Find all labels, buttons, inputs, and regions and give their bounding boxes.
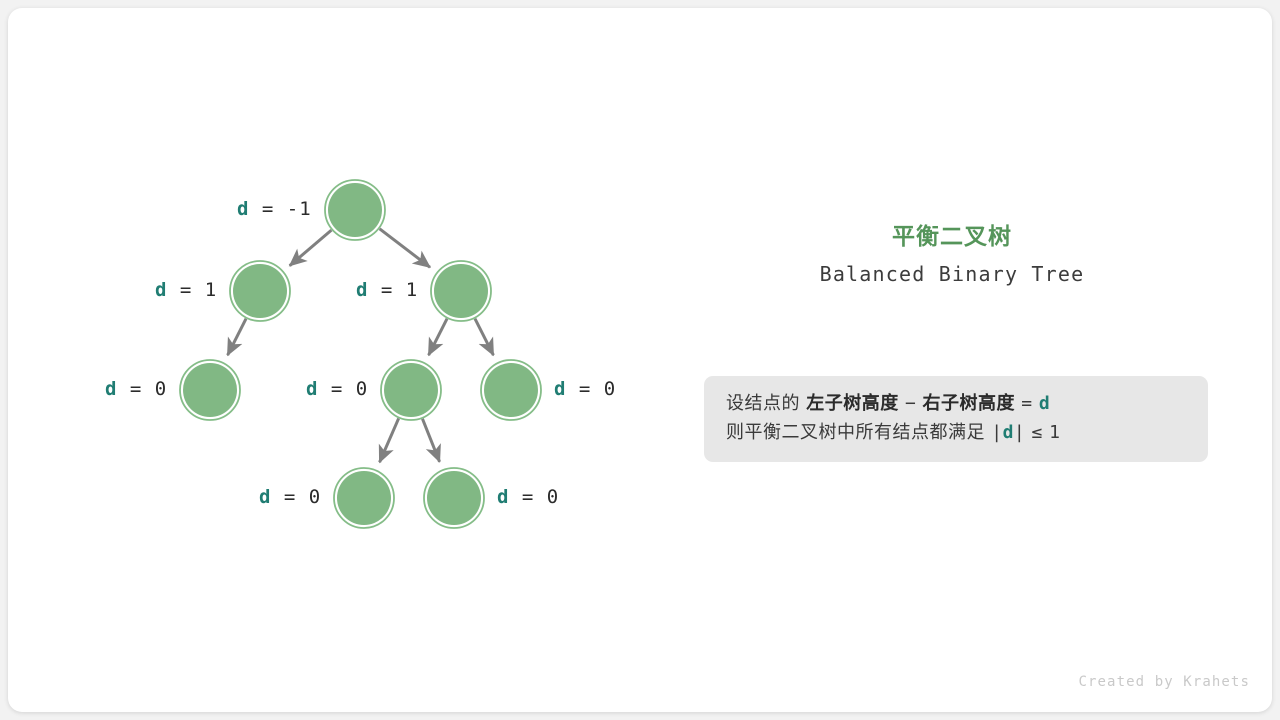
tree-node (334, 468, 394, 528)
label-expression: = -1 (249, 198, 311, 220)
label-expression: = 0 (271, 486, 321, 508)
label-variable: d (497, 486, 509, 508)
label-expression: = 1 (167, 279, 217, 301)
tree-edge (228, 319, 246, 356)
node-circle (484, 363, 538, 417)
definition-box: 设结点的 左子树高度 − 右子树高度 = d 则平衡二叉树中所有结点都满足 |d… (704, 376, 1208, 462)
label-expression: = 0 (566, 378, 616, 400)
variable-d-abs: d (1003, 422, 1014, 443)
label-expression: = 0 (318, 378, 368, 400)
page-title: 平衡二叉树 (696, 223, 1208, 252)
label-variable: d (155, 279, 167, 301)
node-balance-label: d = 0 (306, 380, 368, 399)
abs-bar-open: | (991, 422, 1002, 443)
node-balance-label: d = 0 (554, 380, 616, 399)
label-variable: d (306, 378, 318, 400)
label-expression: = 0 (509, 486, 559, 508)
tree-node (230, 261, 290, 321)
term-left-subtree-height: 左子树高度 (806, 393, 899, 414)
node-circle (233, 264, 287, 318)
node-circle (337, 471, 391, 525)
less-equal-operator: ≤ (1032, 422, 1043, 443)
equals-operator: = (1021, 393, 1032, 414)
page-subtitle: Balanced Binary Tree (696, 261, 1208, 287)
tree-edge (429, 319, 447, 356)
tree-edge (475, 319, 493, 356)
node-balance-label: d = 0 (259, 488, 321, 507)
abs-bar-close: | (1014, 422, 1025, 443)
node-balance-label: d = -1 (237, 200, 312, 219)
binary-tree-graphic (8, 8, 1272, 712)
tree-edge (290, 230, 332, 266)
label-expression: = 1 (368, 279, 418, 301)
term-right-subtree-height: 右子树高度 (923, 393, 1016, 414)
bound-value: 1 (1049, 422, 1060, 443)
node-balance-label: d = 1 (356, 281, 418, 300)
tree-node (424, 468, 484, 528)
node-circle (183, 363, 237, 417)
label-variable: d (554, 378, 566, 400)
node-balance-label: d = 0 (497, 488, 559, 507)
definition-line-2: 则平衡二叉树中所有结点都满足 |d| ≤ 1 (726, 418, 1186, 447)
tree-node (325, 180, 385, 240)
credit-text: Created by Krahets (1078, 674, 1250, 690)
tree-edge (380, 229, 430, 267)
node-circle (434, 264, 488, 318)
label-variable: d (237, 198, 249, 220)
tree-node (431, 261, 491, 321)
minus-operator: − (905, 393, 916, 414)
tree-node (481, 360, 541, 420)
label-variable: d (356, 279, 368, 301)
node-balance-label: d = 1 (155, 281, 217, 300)
label-variable: d (259, 486, 271, 508)
tree-edge (422, 419, 439, 462)
tree-node (180, 360, 240, 420)
title-panel: 平衡二叉树 Balanced Binary Tree (696, 223, 1208, 287)
definition-prefix: 设结点的 (726, 393, 800, 414)
tree-edges (228, 229, 494, 462)
condition-prefix: 则平衡二叉树中所有结点都满足 (726, 422, 985, 443)
definition-line-1: 设结点的 左子树高度 − 右子树高度 = d (726, 389, 1186, 418)
tree-node (381, 360, 441, 420)
node-balance-label: d = 0 (105, 380, 167, 399)
label-variable: d (105, 378, 117, 400)
tree-nodes (180, 180, 541, 528)
tree-edge (380, 418, 399, 462)
node-circle (384, 363, 438, 417)
node-circle (427, 471, 481, 525)
variable-d: d (1039, 393, 1050, 414)
node-circle (328, 183, 382, 237)
label-expression: = 0 (117, 378, 167, 400)
diagram-card: d = -1d = 1d = 1d = 0d = 0d = 0d = 0d = … (8, 8, 1272, 712)
